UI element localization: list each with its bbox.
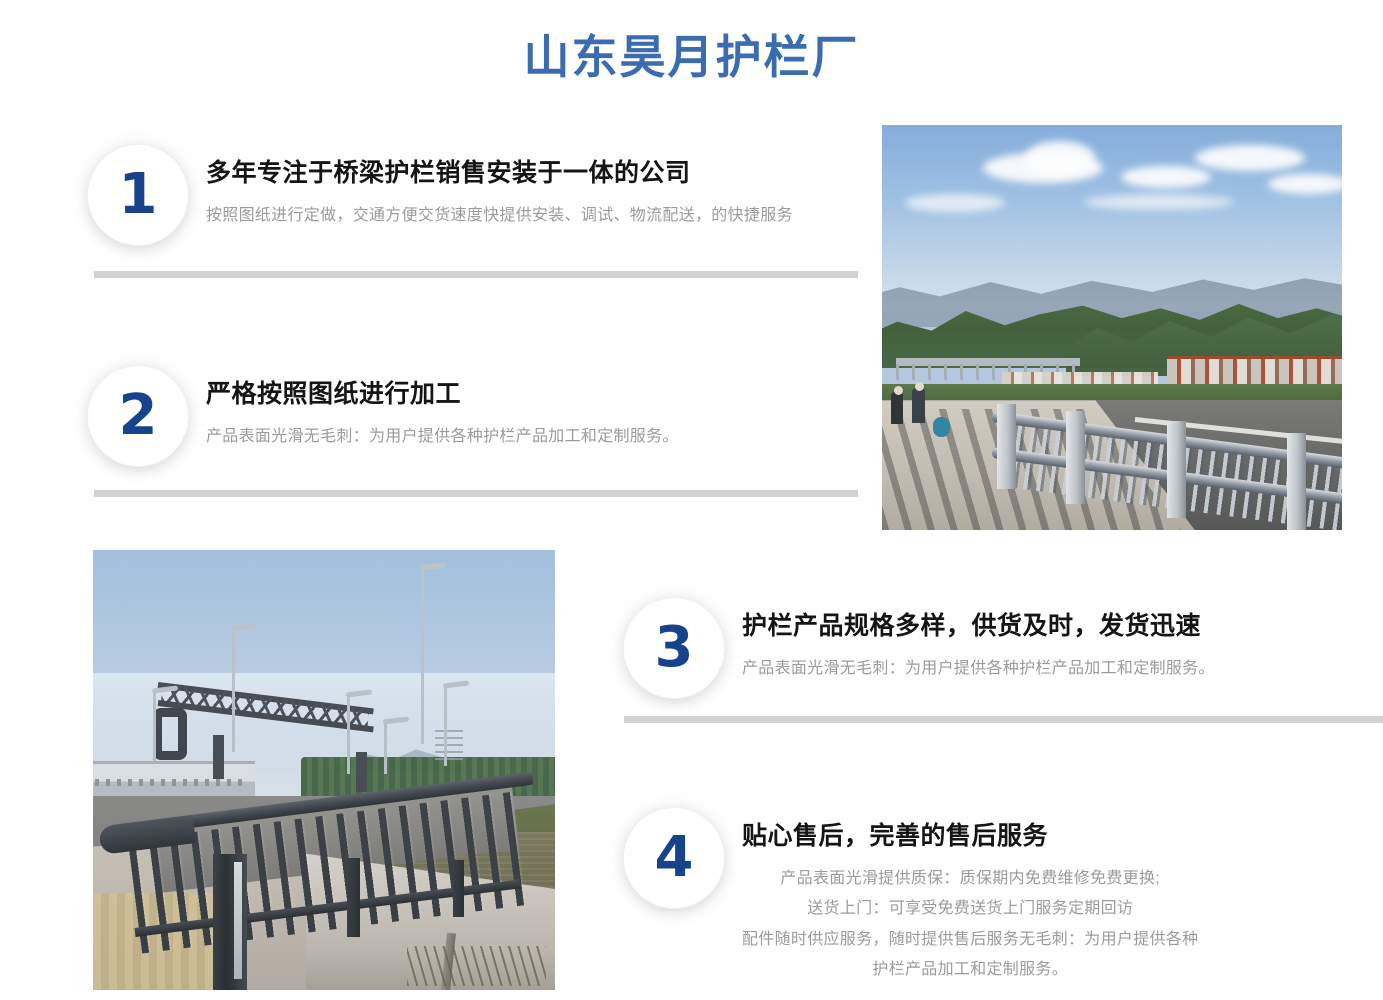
photo-cloud [905,194,1005,212]
feature-item-3: 3 护栏产品规格多样，供货及时，发货迅速 产品表面光滑无毛刺：为用户提供各种护栏… [624,598,1215,698]
feature-number-4: 4 [655,830,694,886]
photo-cloud [1025,141,1095,175]
feature-subtitle-line: 产品表面光滑提供质保：质保期内免费维修免费更换; [742,864,1198,894]
photo-worker [912,388,925,423]
photo-railing-main-post [213,854,247,990]
bridge-guardrail-mountain-photo [882,125,1342,530]
feature-badge-1: 1 [88,145,188,245]
photo-railing-post [347,858,360,937]
photo-worker [891,392,903,424]
photo-street-lamp [347,695,350,774]
photo-cloud [1268,174,1342,194]
feature-subtitle-line: 送货上门：可享受免费送货上门服务定期回访 [742,894,1198,924]
feature-number-3: 3 [655,620,694,676]
photo-railing-post [997,404,1016,489]
feature-title-3: 护栏产品规格多样，供货及时，发货迅速 [742,610,1215,644]
photo-street-lamp [444,686,447,765]
photo-railing-post [1287,433,1306,530]
page-title: 山东昊月护栏厂 [0,30,1383,85]
feature-badge-4: 4 [624,808,724,908]
feature-subtitle-2: 产品表面光滑无毛刺：为用户提供各种护栏产品加工和定制服务。 [206,422,679,452]
divider-1 [94,271,858,278]
photo-grass [407,946,546,986]
feature-title-2: 严格按照图纸进行加工 [206,378,679,412]
promo-page: 山东昊月护栏厂 1 多年专注于桥梁护栏销售安装于一体的公司 按照图纸进行定做，交… [0,0,1383,1000]
photo-gantry-frame [153,708,187,760]
photo-cloud [1084,194,1234,210]
photo-worker [933,417,950,437]
divider-2 [94,490,858,497]
photo-railing-post [1066,411,1085,504]
feature-badge-3: 3 [624,598,724,698]
bridge-guardrail-river-photo [93,550,555,990]
photo-buildings [93,761,255,796]
photo-cloud [1121,166,1211,188]
feature-subtitle-4: 产品表面光滑提供质保：质保期内免费维修免费更换; 送货上门：可享受免费送货上门服… [742,864,1198,986]
feature-subtitle-line: 配件随时供应服务，随时提供售后服务无毛刺：为用户提供各种 [742,925,1198,955]
feature-item-4: 4 贴心售后，完善的售后服务 产品表面光滑提供质保：质保期内免费维修免费更换; … [624,808,1198,985]
divider-3 [624,716,1383,723]
photo-power-pylon [435,726,463,760]
photo-railing-post [1167,421,1186,518]
feature-subtitle-line: 按照图纸进行定做，交通方便交货速度快提供安装、调试、物流配送，的快捷服务 [206,201,793,231]
feature-subtitle-line: 产品表面光滑无毛刺：为用户提供各种护栏产品加工和定制服务。 [742,654,1215,684]
feature-subtitle-3: 产品表面光滑无毛刺：为用户提供各种护栏产品加工和定制服务。 [742,654,1215,684]
feature-subtitle-1: 按照图纸进行定做，交通方便交货速度快提供安装、调试、物流配送，的快捷服务 [206,201,793,231]
feature-number-1: 1 [119,167,158,223]
feature-item-2: 2 严格按照图纸进行加工 产品表面光滑无毛刺：为用户提供各种护栏产品加工和定制服… [88,366,679,466]
feature-title-4: 贴心售后，完善的售后服务 [742,820,1198,854]
photo-street-lamp [384,722,387,775]
photo-truss-gantry [158,682,375,735]
feature-subtitle-line: 产品表面光滑无毛刺：为用户提供各种护栏产品加工和定制服务。 [206,422,679,452]
feature-subtitle-line: 护栏产品加工和定制服务。 [742,955,1198,985]
feature-badge-2: 2 [88,366,188,466]
feature-title-1: 多年专注于桥梁护栏销售安装于一体的公司 [206,157,793,191]
feature-item-1: 1 多年专注于桥梁护栏销售安装于一体的公司 按照图纸进行定做，交通方便交货速度快… [88,145,793,245]
photo-street-lamp [421,568,424,744]
feature-number-2: 2 [119,388,158,444]
photo-street-lamp [153,691,156,761]
photo-gantry-leg [213,735,224,779]
photo-street-lamp [232,629,235,752]
photo-gantry-leg [356,752,367,792]
photo-railing-post [453,860,464,917]
